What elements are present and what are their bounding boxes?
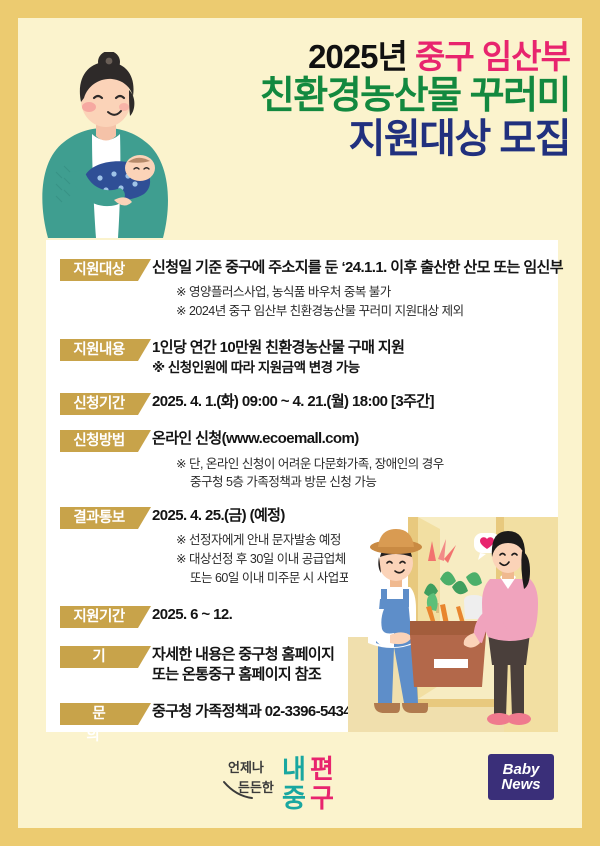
junggu-slogan-line-2: 든든한 <box>238 780 274 795</box>
tag-wrap: 지원대상 <box>60 258 152 281</box>
row-tag-support-period: 지원기간 <box>60 606 138 628</box>
babynews-line-2: News <box>501 777 540 793</box>
delivery-illustration <box>348 517 558 732</box>
info-row-application-period: 신청기간 2025. 4. 1.(화) 09:00 ~ 4. 21.(월) 18… <box>60 392 572 415</box>
tag-wrap: 지원기간 <box>60 605 152 628</box>
row-tag-inquiry: 문 의 <box>60 703 138 725</box>
tag-wrap: 신청기간 <box>60 392 152 415</box>
row-body: 온라인 신청(www.ecoemall.com) ※ 단, 온라인 신청이 어려… <box>152 429 572 492</box>
title-line-2: 친환경농산물 꾸러미 <box>260 77 570 115</box>
row-note: ※ 신청인원에 따라 지원금액 변경 가능 <box>152 358 572 378</box>
row-note: ※ 단, 온라인 신청이 어려운 다문화가족, 장애인의 경우 <box>152 455 572 474</box>
junggu-brand-pyeon: 편 <box>310 754 334 784</box>
row-main-text: 2025. 4. 1.(화) 09:00 ~ 4. 21.(월) 18:00 [… <box>152 392 572 412</box>
junggu-slogan-line-1: 언제나 <box>228 760 264 775</box>
poster-footer: 언제나 든든한 내 편 중 구 Baby News <box>18 732 582 828</box>
row-main-text: 1인당 연간 10만원 친환경농산물 구매 지원 <box>152 338 572 358</box>
poster-title: 2025년 중구 임산부 친환경농산물 꾸러미 지원대상 모집 <box>260 40 570 163</box>
tag-wrap: 신청방법 <box>60 429 152 452</box>
row-tag-support-target: 지원대상 <box>60 259 138 281</box>
tag-wrap: 문 의 <box>60 702 152 725</box>
row-body: 1인당 연간 10만원 친환경농산물 구매 지원 ※ 신청인원에 따라 지원금액… <box>152 338 572 379</box>
junggu-brand-nae: 내 <box>282 754 306 784</box>
title-year: 2025년 <box>308 38 407 75</box>
title-line-1: 2025년 중구 임산부 <box>260 40 570 73</box>
row-tag-result-notice: 결과통보 <box>60 507 138 529</box>
row-main-text: 신청일 기준 중구에 주소지를 둔 ‘24.1.1. 이후 출산한 산모 또는 … <box>152 258 572 278</box>
poster-inner: 2025년 중구 임산부 친환경농산물 꾸러미 지원대상 모집 지원대상 신청일… <box>18 18 582 828</box>
title-line-3: 지원대상 모집 <box>260 119 570 159</box>
row-note: ※ 영양플러스사업, 농식품 바우처 중복 불가 <box>152 283 572 302</box>
row-main-text: 온라인 신청(www.ecoemall.com) <box>152 429 572 449</box>
tag-wrap: 지원내용 <box>60 338 152 361</box>
row-note: ※ 2024년 중구 임산부 친환경농산물 꾸러미 지원대상 제외 <box>152 302 572 321</box>
tag-wrap: 결과통보 <box>60 506 152 529</box>
poster-header: 2025년 중구 임산부 친환경농산물 꾸러미 지원대상 모집 <box>18 18 582 218</box>
poster-frame: 2025년 중구 임산부 친환경농산물 꾸러미 지원대상 모집 지원대상 신청일… <box>0 0 600 846</box>
babynews-line-1: Baby <box>503 762 540 777</box>
title-subject: 중구 임산부 <box>415 38 570 75</box>
row-note: 중구청 5층 가족정책과 방문 신청 가능 <box>152 473 572 492</box>
tag-wrap: 기 타 <box>60 645 152 668</box>
mother-holding-baby-illustration <box>30 52 180 242</box>
junggu-brand-jung: 중 <box>282 783 306 812</box>
info-row-support-content: 지원내용 1인당 연간 10만원 친환경농산물 구매 지원 ※ 신청인원에 따라… <box>60 338 572 379</box>
junggu-brand-gu: 구 <box>310 783 334 812</box>
row-tag-application-period: 신청기간 <box>60 393 138 415</box>
row-tag-application-method: 신청방법 <box>60 430 138 452</box>
row-tag-other: 기 타 <box>60 646 138 668</box>
info-row-support-target: 지원대상 신청일 기준 중구에 주소지를 둔 ‘24.1.1. 이후 출산한 산… <box>60 258 572 321</box>
content-panel: 지원대상 신청일 기준 중구에 주소지를 둔 ‘24.1.1. 이후 출산한 산… <box>46 240 558 732</box>
info-row-application-method: 신청방법 온라인 신청(www.ecoemall.com) ※ 단, 온라인 신… <box>60 429 572 492</box>
row-body: 2025. 4. 1.(화) 09:00 ~ 4. 21.(월) 18:00 [… <box>152 392 572 412</box>
row-tag-support-content: 지원내용 <box>60 339 138 361</box>
junggu-brand-logo: 언제나 든든한 내 편 중 구 <box>216 750 366 812</box>
row-body: 신청일 기준 중구에 주소지를 둔 ‘24.1.1. 이후 출산한 산모 또는 … <box>152 258 572 321</box>
babynews-logo: Baby News <box>488 754 554 800</box>
